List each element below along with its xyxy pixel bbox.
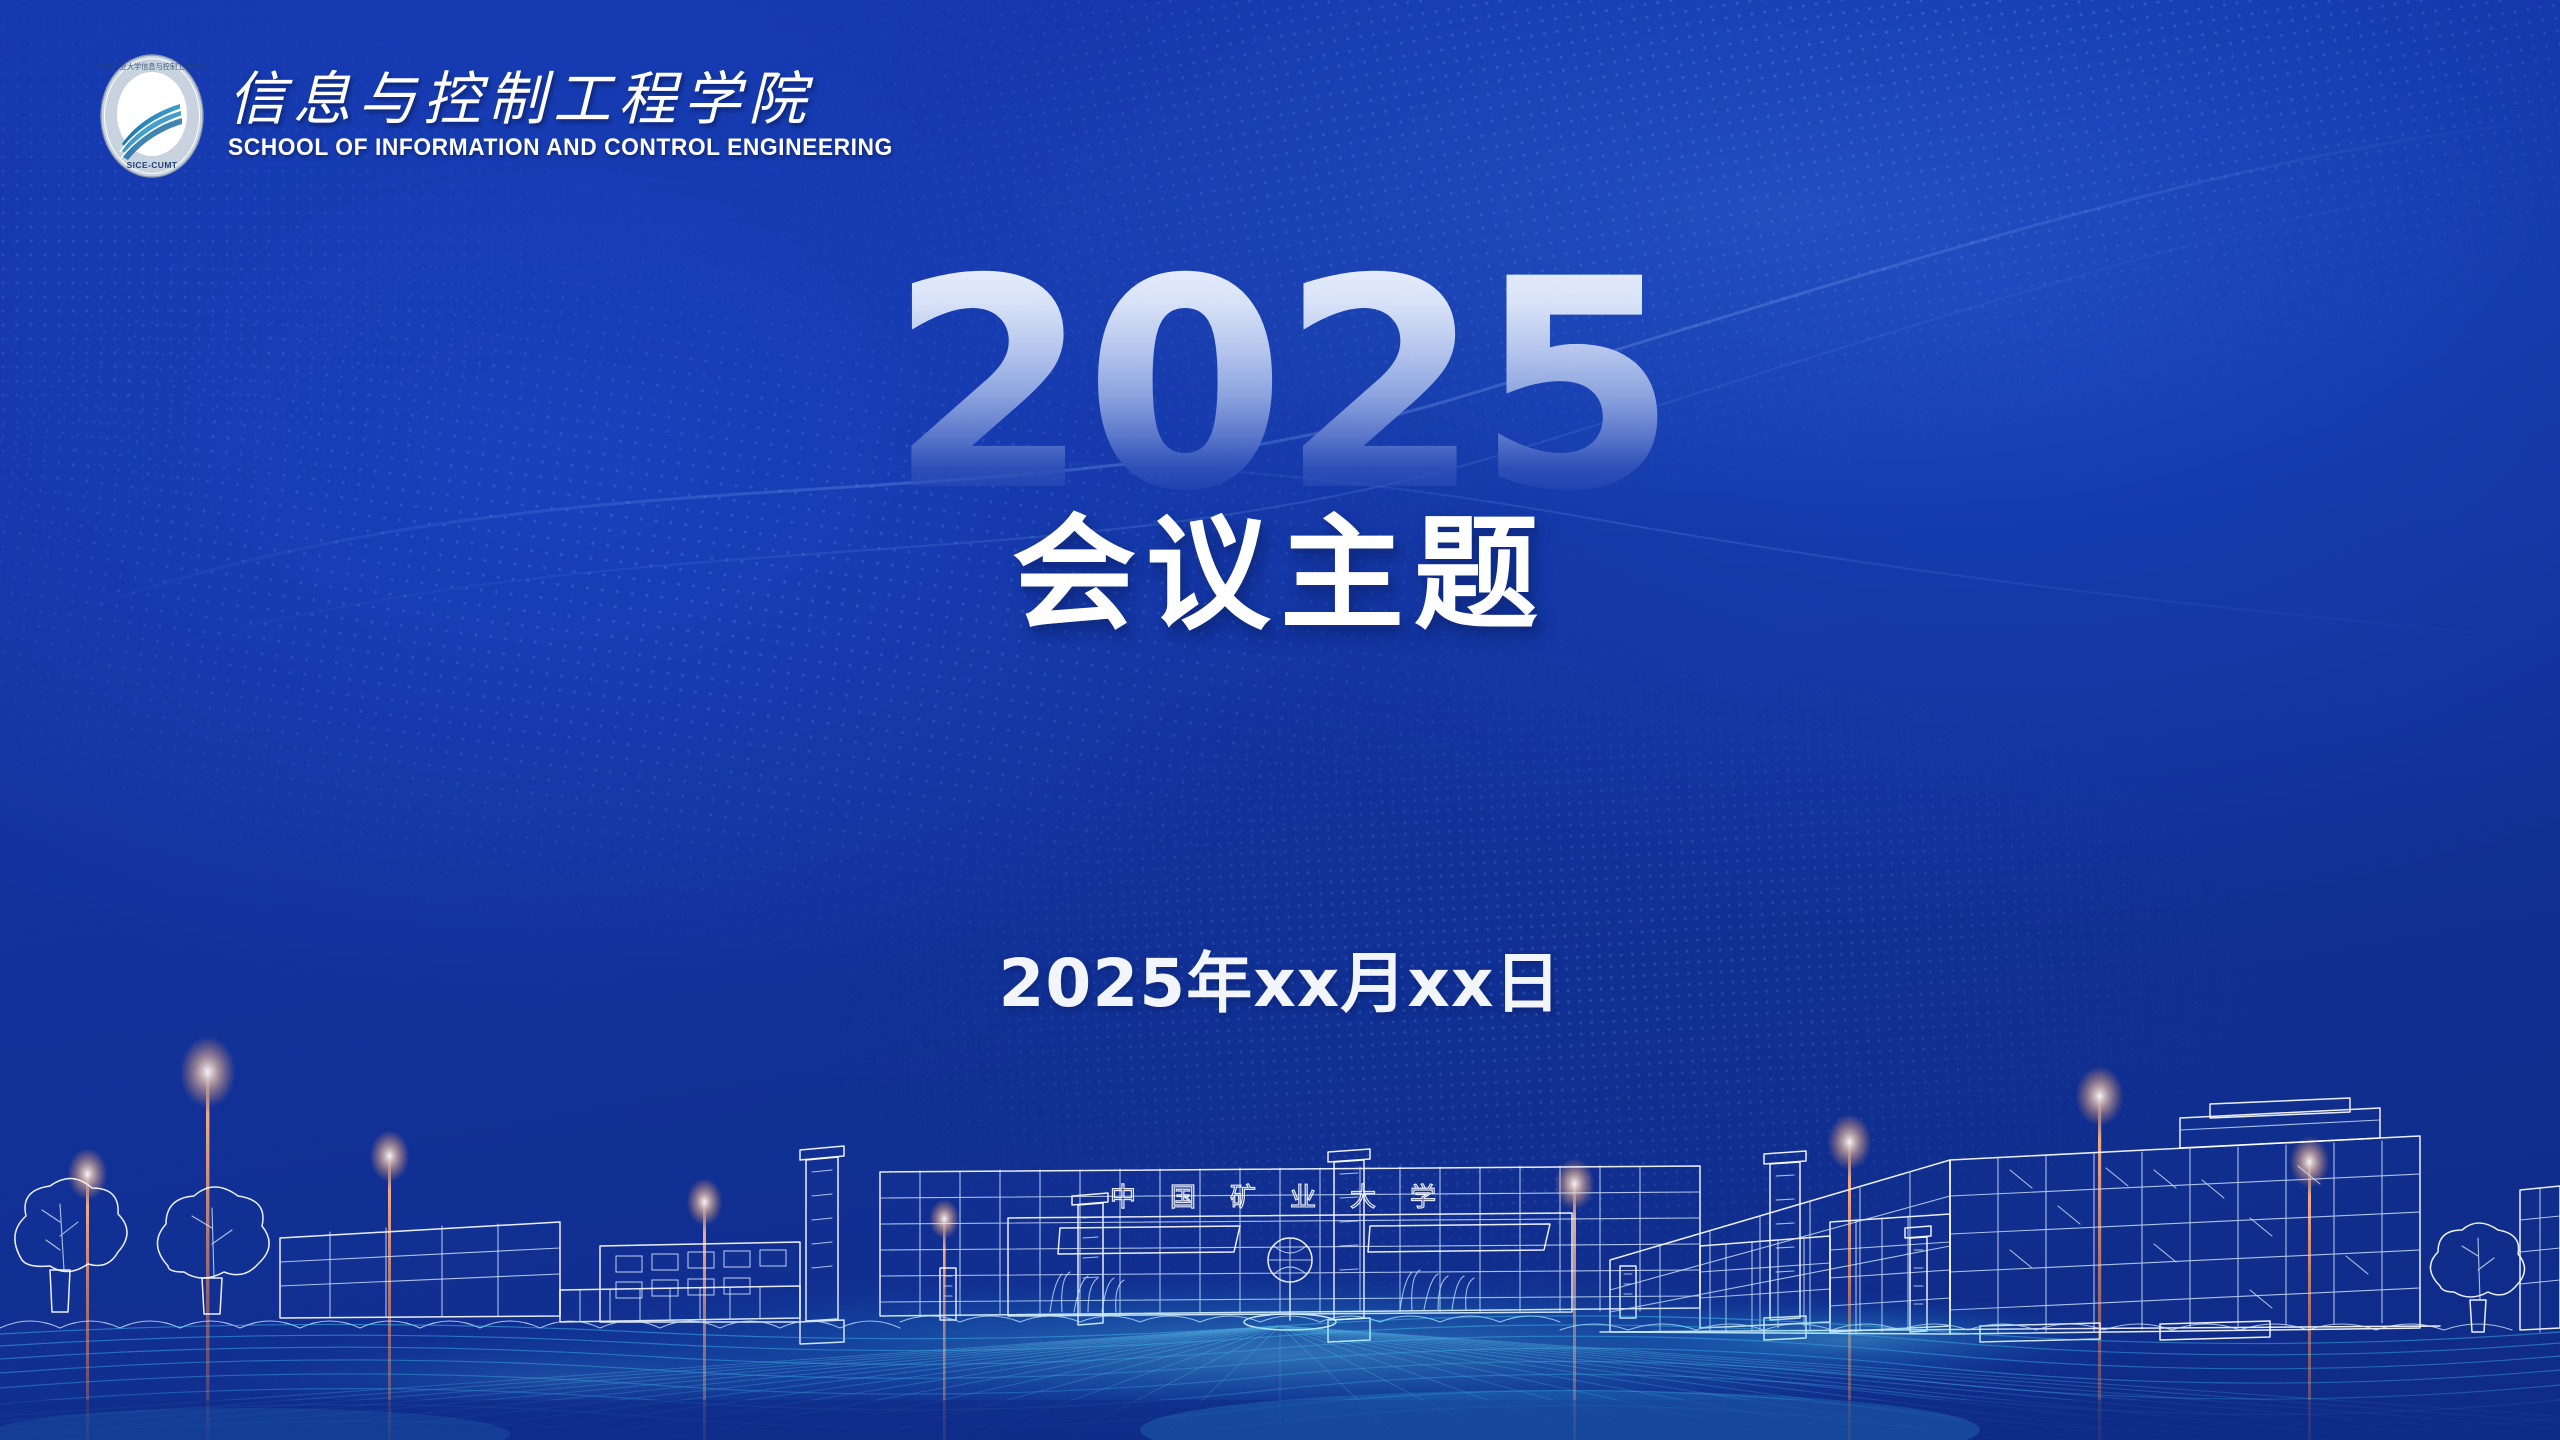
school-seal-icon: 中国矿业大学信息与控制工程学院 SICE-CUMT xyxy=(98,52,206,180)
svg-text:SICE-CUMT: SICE-CUMT xyxy=(127,160,178,170)
wireframe-ground-grid xyxy=(0,1264,2560,1440)
logo-name-en: SCHOOL OF INFORMATION AND CONTROL ENGINE… xyxy=(228,134,893,162)
scene-left-trees-and-buildings xyxy=(15,1178,800,1322)
campus-gate: 中国矿业大学 xyxy=(880,1166,1700,1330)
dot-wave-layer-upper-left xyxy=(0,0,2560,1440)
year-watermark: 2025 xyxy=(0,262,2560,511)
dot-wave-layer-top-right xyxy=(0,0,2560,1440)
dot-wave-layer-center-left xyxy=(0,0,2560,1440)
event-date: 2025年xx月xx日 xyxy=(0,930,2560,1026)
scene-right-building xyxy=(1600,1098,2560,1342)
svg-text:中国矿业大学信息与控制工程学院: 中国矿业大学信息与控制工程学院 xyxy=(98,62,206,71)
year-watermark-text: 2025 xyxy=(888,262,1671,511)
dot-wave-layer-center xyxy=(0,0,2560,1440)
gate-sign-text: 中国矿业大学 xyxy=(1110,1183,1470,1213)
slide-canvas: 中国矿业大学信息与控制工程学院 SICE-CUMT 信息与控制工程学院 SCHO… xyxy=(0,0,2560,1440)
logo-text-block: 信息与控制工程学院 SCHOOL OF INFORMATION AND CONT… xyxy=(228,70,943,162)
background-wave-ribbons xyxy=(0,0,2560,1440)
logo-name-cn: 信息与控制工程学院 xyxy=(228,70,943,128)
campus-skyline-illustration: 中国矿业大学 xyxy=(0,960,2560,1440)
scene-hedge-line xyxy=(0,1316,2512,1330)
particle-wave-background xyxy=(0,0,2560,1440)
scene-columns xyxy=(800,1146,1806,1344)
page-title: 会议主题 xyxy=(0,510,2560,640)
light-beams xyxy=(68,1036,2330,1440)
school-logo: 中国矿业大学信息与控制工程学院 SICE-CUMT 信息与控制工程学院 SCHO… xyxy=(98,52,943,180)
